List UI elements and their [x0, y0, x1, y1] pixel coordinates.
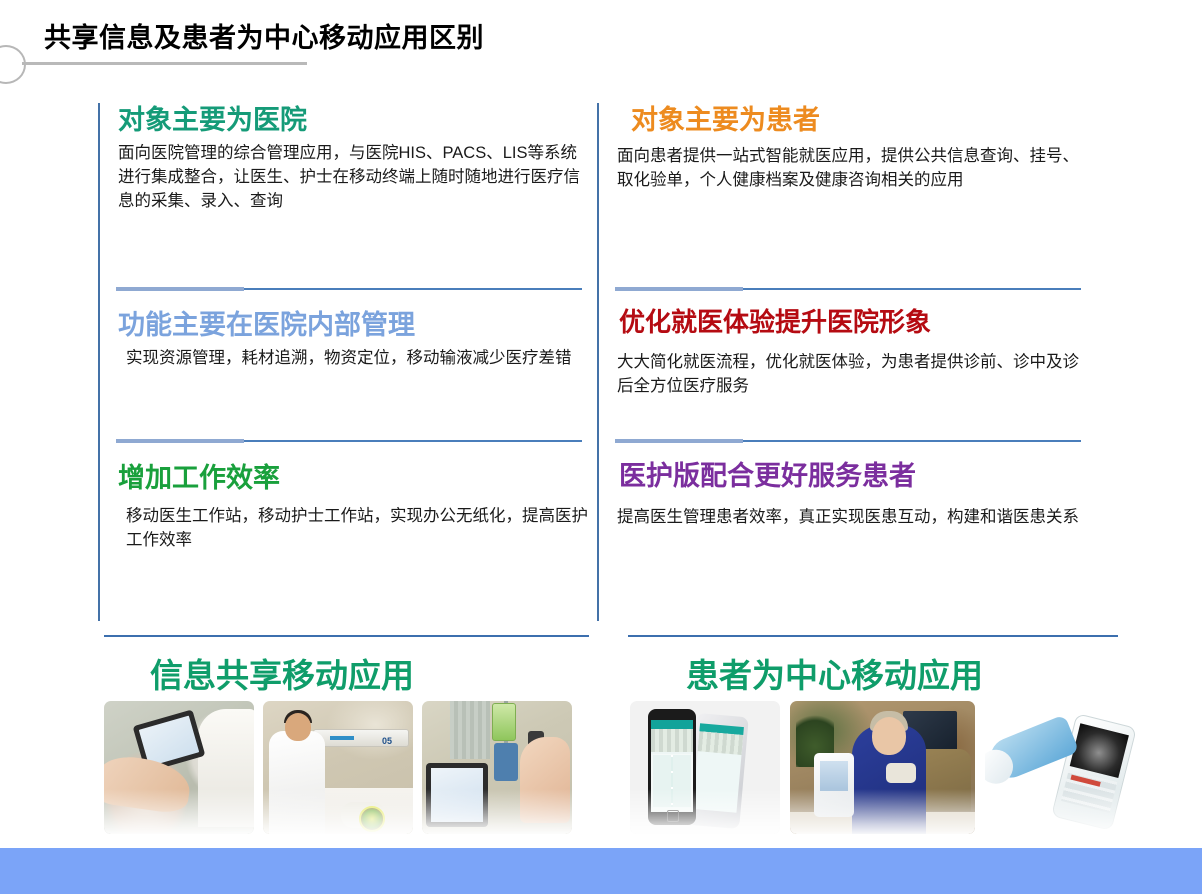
ward-curtain-shape — [450, 701, 490, 759]
left-block-1-heading: 对象主要为医院 — [118, 105, 600, 135]
iphone-app-grid-shape — [653, 755, 691, 807]
right-block-3-body: 提高医生管理患者效率，真正实现医患互动，构建和谐医患关系 — [617, 506, 1099, 530]
bottom-panel-right: 患者为中心移动应用 — [628, 623, 1173, 848]
hand-shape — [520, 737, 570, 823]
patient-gown-shape — [198, 709, 254, 827]
title-underline-rule — [22, 62, 307, 65]
left-block-2-heading: 功能主要在医院内部管理 — [118, 310, 600, 340]
two-smartphones-hospital-app-photo — [630, 701, 780, 834]
bottom-right-rule — [628, 635, 1118, 637]
doctor-coat-shape — [269, 731, 325, 834]
ultrasound-probe-smartphone-photo — [985, 701, 1135, 834]
left-block-1: 对象主要为医院 面向医院管理的综合管理应用，与医院HIS、PACS、LIS等系统… — [100, 105, 600, 214]
android-banner-shape — [698, 731, 744, 755]
page-title: 共享信息及患者为中心移动应用区别 — [44, 16, 484, 55]
left-column: 对象主要为医院 面向医院管理的综合管理应用，与医院HIS、PACS、LIS等系统… — [98, 103, 598, 621]
bottom-left-photo-row: 05 — [104, 701, 572, 834]
left-block-3: 增加工作效率 移动医生工作站，移动护士工作站，实现办公无纸化，提高医护工作效率 — [100, 463, 600, 553]
blue-panel-shape — [494, 743, 518, 781]
nurse-scanning-wristband-tablet-photo — [104, 701, 254, 834]
right-block-1-heading: 对象主要为患者 — [617, 105, 1099, 135]
right-block-3: 医护版配合更好服务患者 提高医生管理患者效率，真正实现医患互动，构建和谐医患关系 — [599, 461, 1099, 530]
right-divider-1 — [615, 288, 1081, 290]
right-block-1: 对象主要为患者 面向患者提供一站式智能就医应用，提供公共信息查询、挂号、取化验单… — [599, 105, 1099, 193]
emblem-badge-shape — [359, 806, 385, 832]
slide-root: 共享信息及患者为中心移动应用区别 对象主要为医院 面向医院管理的综合管理应用，与… — [0, 0, 1202, 894]
left-block-3-heading: 增加工作效率 — [118, 463, 600, 493]
left-block-1-body: 面向医院管理的综合管理应用，与医院HIS、PACS、LIS等系统进行集成整合，让… — [118, 142, 600, 214]
left-divider-1 — [116, 288, 582, 290]
ultrasound-image-shape — [1070, 723, 1129, 778]
bottom-left-rule — [104, 635, 589, 637]
bottom-left-heading: 信息共享移动应用 — [150, 649, 414, 697]
bp-cuff-shape — [886, 763, 916, 783]
bottom-showcase: 信息共享移动应用 05 — [0, 623, 1202, 848]
ultrasound-controls-shape — [1061, 770, 1117, 813]
iphone-shape — [648, 709, 696, 825]
hand-scanner-iv-infusion-tablet-photo — [422, 701, 572, 834]
right-block-3-heading: 医护版配合更好服务患者 — [617, 461, 1099, 491]
elderly-woman-face-shape — [872, 717, 906, 755]
right-block-2: 优化就医体验提升医院形象 大大简化就医流程，优化就医体验，为患者提供诊前、诊中及… — [599, 308, 1099, 399]
left-divider-2 — [116, 440, 582, 442]
left-block-2-body: 实现资源管理，耗材追溯，物资定位，移动输液减少医疗差错 — [118, 347, 600, 371]
android-phone-shape — [687, 713, 749, 829]
right-block-2-heading: 优化就医体验提升医院形象 — [617, 308, 1099, 337]
tablet-device-shape — [426, 763, 488, 827]
left-block-3-body: 移动医生工作站，移动护士工作站，实现办公无纸化，提高医护工作效率 — [118, 505, 600, 553]
bottom-right-photo-row — [630, 701, 1135, 834]
doctor-bedside-barcode-scanner-photo: 05 — [263, 701, 413, 834]
right-divider-2 — [615, 440, 1081, 442]
elderly-woman-blood-pressure-monitor-photo — [790, 701, 975, 834]
right-block-1-body: 面向患者提供一站式智能就医应用，提供公共信息查询、挂号、取化验单，个人健康档案及… — [617, 145, 1099, 193]
doctor-head-shape — [285, 713, 311, 741]
bed-number-label: 05 — [382, 736, 392, 746]
bottom-right-heading: 患者为中心移动应用 — [686, 649, 983, 697]
left-block-2: 功能主要在医院内部管理 实现资源管理，耗材追溯，物资定位，移动输液减少医疗差错 — [100, 310, 600, 371]
right-column: 对象主要为患者 面向患者提供一站式智能就医应用，提供公共信息查询、挂号、取化验单… — [597, 103, 1097, 621]
bottom-accent-bar — [0, 848, 1202, 894]
content-columns: 对象主要为医院 面向医院管理的综合管理应用，与医院HIS、PACS、LIS等系统… — [0, 103, 1202, 623]
iv-bag-shape — [492, 703, 516, 741]
bp-monitor-device-shape — [814, 753, 854, 817]
bottom-panel-left: 信息共享移动应用 05 — [104, 623, 649, 848]
iphone-banner-photo-shape — [651, 729, 693, 752]
right-block-2-body: 大大简化就医流程，优化就医体验，为患者提供诊前、诊中及诊后全方位医疗服务 — [617, 351, 1099, 399]
bed-headwall-panel-shape: 05 — [313, 729, 409, 747]
iphone-home-button-shape — [667, 810, 679, 822]
